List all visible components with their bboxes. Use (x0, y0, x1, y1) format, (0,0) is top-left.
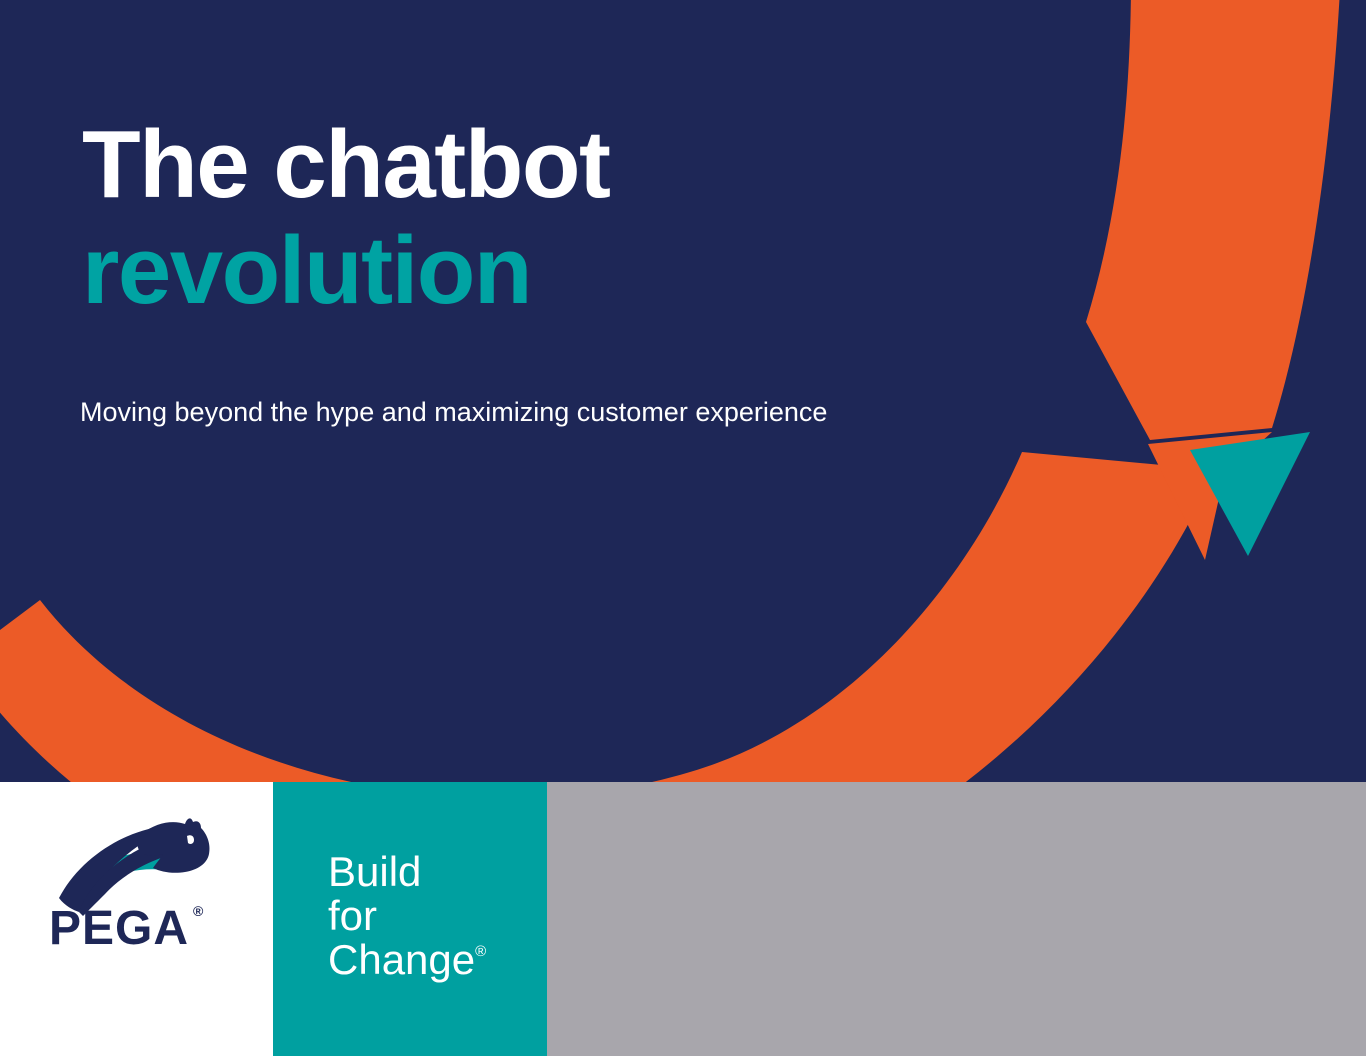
tagline-line-3: Change (328, 936, 475, 983)
gray-filler-panel (547, 782, 1366, 1056)
logo-panel: PEGA ® (0, 782, 273, 1056)
hero-section: The chatbot revolution Moving beyond the… (0, 0, 1366, 782)
pega-logo: PEGA ® (45, 812, 225, 952)
title-line-primary: The chatbot (82, 112, 609, 218)
orange-vertical-band (1086, 0, 1340, 440)
cover-page: The chatbot revolution Moving beyond the… (0, 0, 1366, 1056)
build-for-change-tagline: Build for Change® (328, 850, 486, 982)
tagline-line-3-wrap: Change® (328, 938, 486, 982)
page-subtitle: Moving beyond the hype and maximizing cu… (80, 394, 827, 430)
pega-wordmark: PEGA (49, 902, 189, 952)
tagline-line-2: for (328, 894, 486, 938)
page-title: The chatbot revolution (82, 112, 609, 324)
tagline-panel: Build for Change® (273, 782, 547, 1056)
title-line-accent: revolution (82, 218, 609, 324)
orange-arc-ring (0, 452, 1215, 782)
footer-bar: PEGA ® Build for Change® (0, 782, 1366, 1056)
pega-horse-icon: PEGA ® (45, 812, 225, 952)
tagline-registered-mark: ® (475, 943, 486, 960)
tagline-line-1: Build (328, 850, 486, 894)
pega-registered-mark: ® (193, 903, 204, 919)
